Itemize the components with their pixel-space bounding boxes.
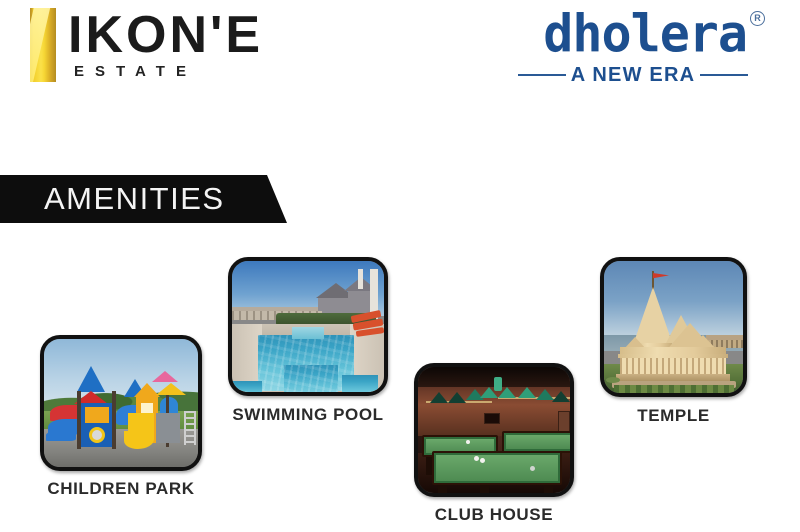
amenity-card-temple[interactable]: TEMPLE	[600, 257, 747, 426]
wall-picture	[484, 413, 500, 424]
pool-corner-left	[232, 381, 262, 392]
registered-trademark-icon: R	[750, 11, 765, 26]
activity-panel	[85, 407, 109, 423]
tagline-rule-right	[700, 74, 748, 76]
dholera-tagline: A NEW ERA	[571, 64, 696, 87]
dholera-logo: dholera R A NEW ERA	[510, 8, 765, 88]
center-light-fixture	[494, 377, 502, 391]
dholera-tagline-row: A NEW ERA	[518, 63, 748, 87]
tagline-rule-left	[518, 74, 566, 76]
hanging-lamp-6	[518, 387, 536, 398]
hanging-lamp-8	[552, 391, 570, 402]
water-feature	[292, 327, 324, 339]
playground-photo	[44, 339, 198, 467]
blue-dome	[160, 397, 178, 413]
pergola-pillar-2	[358, 269, 363, 289]
pool-corner-right	[342, 375, 378, 392]
amenity-photo-frame[interactable]	[228, 257, 388, 396]
pink-umbrella	[152, 371, 178, 382]
amenity-photo-frame[interactable]	[414, 363, 574, 497]
hanging-lamp-2	[448, 392, 466, 403]
club-house-photo	[418, 367, 570, 493]
object-ball	[480, 458, 485, 463]
tower-post-left	[77, 391, 81, 449]
pool-table-back-right	[502, 431, 570, 453]
cue-ball	[466, 440, 470, 444]
ikone-wordmark: IKON'E	[68, 6, 263, 64]
page-title: AMENITIES	[44, 181, 225, 217]
amenities-section-banner: AMENITIES	[0, 175, 287, 223]
ladder	[184, 411, 196, 445]
ikone-tagline: ESTATE	[74, 63, 197, 80]
steering-wheel	[89, 427, 105, 443]
pool-table-front	[432, 451, 562, 485]
amenity-label-children-park: CHILDREN PARK	[40, 479, 202, 499]
front-table-leg-left	[438, 485, 447, 493]
shrub-row	[614, 385, 734, 393]
yellow-umbrella	[156, 383, 186, 395]
right-tower	[156, 413, 180, 443]
hanging-lamp-1	[430, 392, 448, 403]
shrub-left	[606, 377, 620, 383]
pool-spa-front	[284, 365, 338, 392]
temple-ledge	[618, 354, 728, 358]
page-header: IKON'E ESTATE dholera R A NEW ERA	[0, 0, 800, 110]
amenity-card-swimming-pool[interactable]: SWIMMING POOL	[228, 257, 388, 425]
temple-columns	[620, 357, 726, 375]
ikone-estate-logo: IKON'E ESTATE	[30, 6, 300, 86]
table-felt	[436, 455, 558, 481]
front-table-leg-mid	[480, 485, 489, 493]
temple-photo	[604, 261, 743, 393]
spa-ripples	[284, 365, 338, 392]
amenity-label-club-house: CLUB HOUSE	[414, 505, 574, 525]
blue-cone-roof	[77, 366, 105, 392]
blue-slide-lower	[46, 431, 76, 441]
amenity-photo-frame[interactable]	[40, 335, 202, 471]
cue-ball-front	[474, 456, 479, 461]
amenity-label-swimming-pool: SWIMMING POOL	[228, 405, 388, 425]
amenity-photo-frame[interactable]	[600, 257, 747, 397]
gold-slash-mark-icon	[30, 8, 56, 82]
object-ball-2	[530, 466, 535, 471]
amenity-card-children-park[interactable]: CHILDREN PARK	[40, 335, 202, 499]
wall-panel-right	[558, 411, 570, 433]
front-table-leg-right	[544, 485, 553, 493]
swimming-pool-photo	[232, 261, 384, 392]
table-felt	[506, 435, 570, 449]
amenity-label-temple: TEMPLE	[600, 406, 747, 426]
amenity-card-club-house[interactable]: CLUB HOUSE	[414, 363, 574, 525]
dholera-wordmark: dholera	[543, 7, 747, 61]
